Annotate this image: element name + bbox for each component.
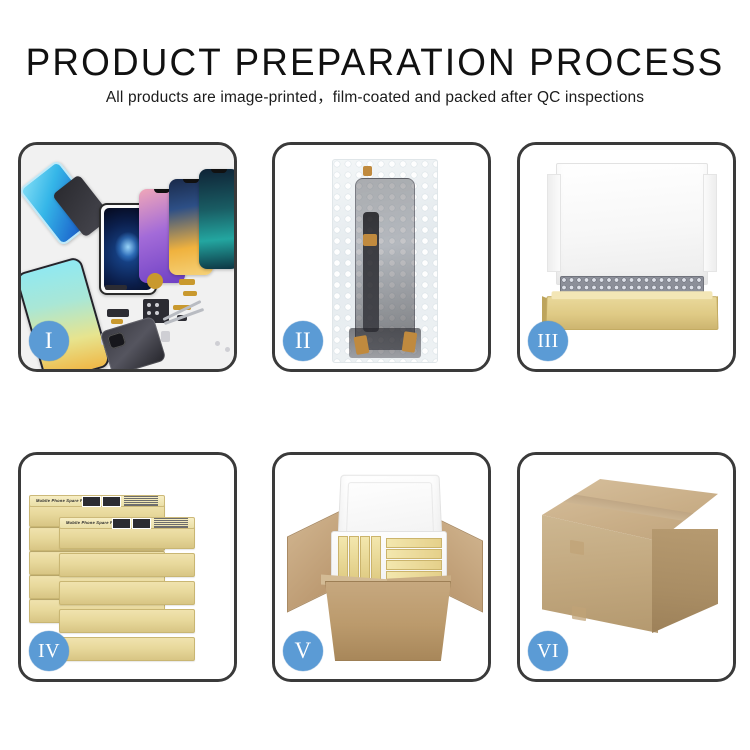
- open-carton: [287, 473, 483, 659]
- box-item: [59, 609, 195, 633]
- sealed-carton: [542, 479, 718, 643]
- box-item-top-front: Mobile Phone Spare Parts: [59, 525, 195, 549]
- foam-lid: [556, 163, 708, 285]
- flex-cable: [363, 212, 379, 332]
- carton-tape-lower: [572, 606, 586, 621]
- connector-top: [363, 166, 372, 176]
- open-kraft-tray: [540, 163, 720, 341]
- process-step-6: VI: [517, 452, 736, 682]
- process-step-3: III: [517, 142, 736, 372]
- box-window-left: [82, 496, 101, 507]
- process-grid: I II: [0, 0, 750, 750]
- product-preparation-infographic: PRODUCT PREPARATION PROCESS All products…: [0, 0, 750, 750]
- box-window-right: [102, 496, 121, 507]
- box-item: [59, 637, 195, 661]
- yellow-box-item: [386, 560, 442, 570]
- box-spec-lines: [154, 518, 188, 527]
- step-badge-3: III: [528, 321, 568, 361]
- tray-base: [545, 296, 718, 330]
- connector-bottom-right: [402, 331, 418, 353]
- box-item: [59, 581, 195, 605]
- step-badge-2: II: [283, 321, 323, 361]
- tweezers-icon: [161, 303, 213, 339]
- yellow-box-item: [386, 538, 442, 548]
- box-window-right: [132, 518, 151, 529]
- box-spec-lines: [124, 496, 158, 505]
- process-step-4: Mobile Phone Spare Parts: [18, 452, 237, 682]
- carton-top-seam: [558, 492, 698, 523]
- step-badge-5: V: [283, 631, 323, 671]
- yellow-box-item: [386, 549, 442, 559]
- teal-screen-phone: [199, 169, 234, 269]
- step-badge-6: VI: [528, 631, 568, 671]
- process-step-1: I: [18, 142, 237, 372]
- process-step-2: II: [272, 142, 491, 372]
- bubble-wrap-bag: [332, 159, 438, 363]
- carton-body: [325, 581, 451, 661]
- process-step-5: V: [272, 452, 491, 682]
- camera-lens: [107, 331, 126, 349]
- step-badge-1: I: [29, 321, 69, 361]
- carton-side-face: [652, 529, 718, 633]
- box-item: [59, 553, 195, 577]
- carton-tape-upper: [570, 540, 584, 555]
- connector-middle: [363, 234, 377, 246]
- box-window-left: [112, 518, 131, 529]
- step-badge-4: IV: [29, 631, 69, 671]
